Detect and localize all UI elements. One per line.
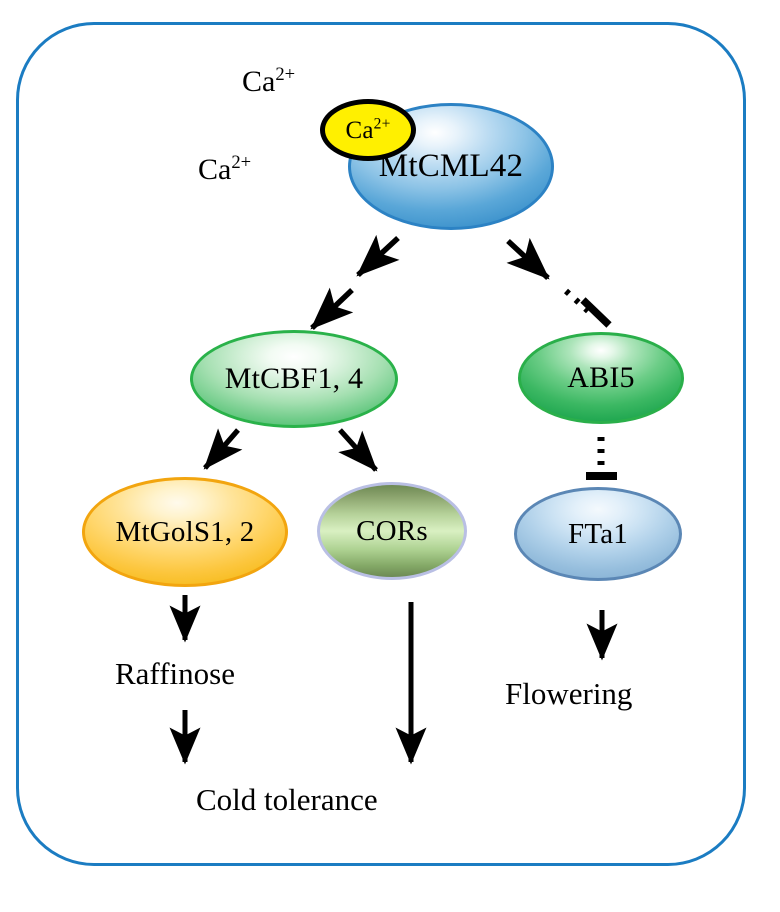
node-mtcbf1-4-label: MtCBF1, 4 [225,364,364,394]
outcome-flowering: Flowering [505,676,632,712]
charge-superscript-2: 2+ [231,152,251,173]
charge-superscript-1: 2+ [275,64,295,85]
charge-superscript-bound: 2+ [374,115,391,132]
node-fta1-label: FTa1 [568,520,628,549]
node-bound-calcium-label: Ca2+ [345,118,390,143]
node-cors[interactable]: CORs [317,482,467,580]
free-calcium-symbol-2: Ca2+ [198,153,251,186]
free-calcium-label-2: Ca2+ [198,153,251,187]
free-calcium-symbol-1: Ca2+ [242,65,295,98]
node-mtcml42-label: MtCML42 [379,150,523,183]
free-calcium-label-1: Ca2+ [242,65,295,99]
node-bound-calcium[interactable]: Ca2+ [320,99,416,161]
node-abi5-label: ABI5 [567,363,634,393]
outcome-cold-tolerance: Cold tolerance [196,782,378,818]
node-mtgols1-2-label: MtGolS1, 2 [116,518,255,547]
node-mtcbf1-4[interactable]: MtCBF1, 4 [190,330,398,428]
node-abi5[interactable]: ABI5 [518,332,684,424]
node-mtgols1-2[interactable]: MtGolS1, 2 [82,477,288,587]
node-fta1[interactable]: FTa1 [514,487,682,581]
outcome-raffinose: Raffinose [115,656,235,692]
node-cors-label: CORs [356,517,428,546]
pathway-diagram-canvas: Ca2+ Ca2+ Ca2+ MtCML42 MtCBF1, 4 ABI5 Mt… [0,0,780,912]
